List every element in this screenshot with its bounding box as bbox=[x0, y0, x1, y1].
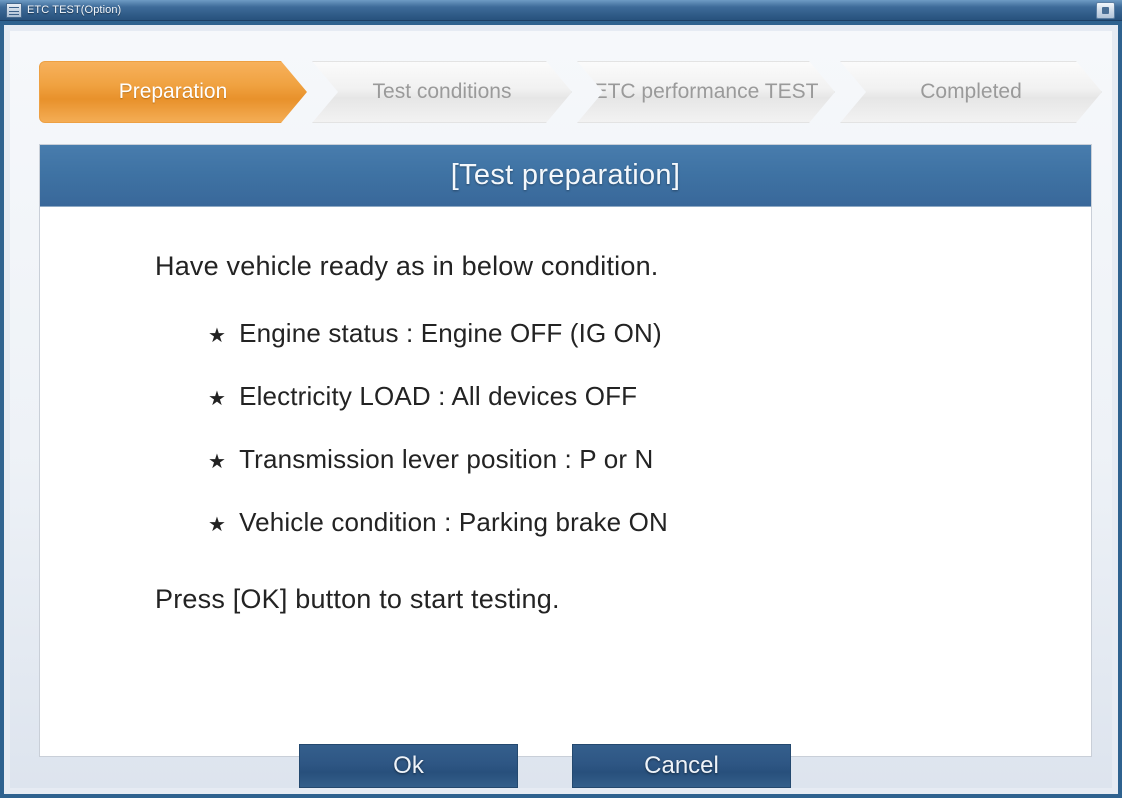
star-bullet-icon: ★ bbox=[208, 515, 226, 535]
list-item: ★ Transmission lever position : P or N bbox=[208, 444, 1091, 475]
panel-header: [Test preparation] bbox=[40, 145, 1091, 207]
step-etc-performance-test[interactable]: ETC performance TEST bbox=[577, 61, 835, 123]
content-panel: [Test preparation] Have vehicle ready as… bbox=[39, 144, 1092, 757]
step-completed-label: Completed bbox=[920, 80, 1022, 104]
window-title: ETC TEST(Option) bbox=[27, 4, 121, 16]
step-test-conditions[interactable]: Test conditions bbox=[312, 61, 572, 123]
dialog-frame-outer: Preparation Test conditions ETC performa… bbox=[0, 21, 1122, 798]
panel-body: Have vehicle ready as in below condition… bbox=[40, 207, 1091, 756]
step-test-conditions-label: Test conditions bbox=[373, 80, 512, 104]
lead-instruction-text: Have vehicle ready as in below condition… bbox=[155, 251, 1091, 282]
dialog-frame-inner: Preparation Test conditions ETC performa… bbox=[4, 25, 1118, 794]
step-etc-performance-test-label: ETC performance TEST bbox=[594, 80, 819, 104]
etc-test-dialog-window: ETC TEST(Option) Preparation Test condit… bbox=[0, 0, 1122, 798]
condition-text: Electricity LOAD : All devices OFF bbox=[239, 381, 637, 412]
star-bullet-icon: ★ bbox=[208, 452, 226, 472]
condition-list: ★ Engine status : Engine OFF (IG ON) ★ E… bbox=[40, 318, 1091, 538]
progress-stepper: Preparation Test conditions ETC performa… bbox=[39, 61, 1092, 123]
cancel-button[interactable]: Cancel bbox=[572, 744, 791, 788]
step-preparation-label: Preparation bbox=[119, 80, 228, 104]
list-item: ★ Electricity LOAD : All devices OFF bbox=[208, 381, 1091, 412]
star-bullet-icon: ★ bbox=[208, 389, 226, 409]
list-item: ★ Vehicle condition : Parking brake ON bbox=[208, 507, 1091, 538]
star-bullet-icon: ★ bbox=[208, 326, 226, 346]
step-preparation[interactable]: Preparation bbox=[39, 61, 307, 123]
page-title: [Test preparation] bbox=[451, 159, 680, 192]
ok-button-label: Ok bbox=[393, 752, 424, 780]
dialog-footer: Ok Cancel bbox=[10, 738, 1112, 788]
ok-button[interactable]: Ok bbox=[299, 744, 518, 788]
closing-instruction-text: Press [OK] button to start testing. bbox=[155, 584, 1091, 615]
app-icon bbox=[6, 3, 22, 18]
condition-text: Transmission lever position : P or N bbox=[239, 444, 653, 475]
step-completed[interactable]: Completed bbox=[840, 61, 1102, 123]
condition-text: Vehicle condition : Parking brake ON bbox=[239, 507, 668, 538]
title-bar-buttons bbox=[1096, 2, 1115, 19]
title-bar: ETC TEST(Option) bbox=[0, 0, 1122, 21]
condition-text: Engine status : Engine OFF (IG ON) bbox=[239, 318, 662, 349]
restore-icon[interactable] bbox=[1096, 2, 1115, 19]
cancel-button-label: Cancel bbox=[644, 752, 719, 780]
list-item: ★ Engine status : Engine OFF (IG ON) bbox=[208, 318, 1091, 349]
